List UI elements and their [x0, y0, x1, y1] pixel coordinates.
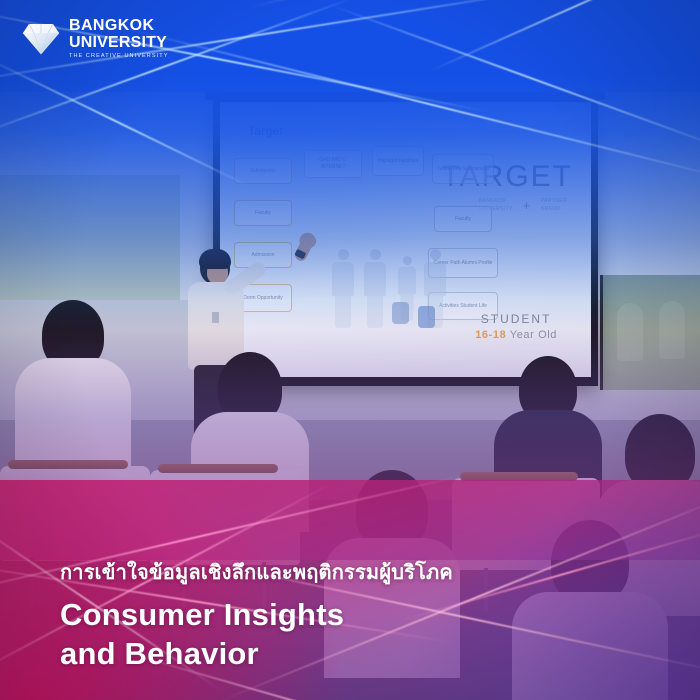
bangkok-university-logo: BANGKOK UNIVERSITY THE CREATIVE UNIVERSI…: [22, 18, 168, 60]
headline-english-line2: and Behavior: [60, 634, 453, 674]
headline-english-line1: Consumer Insights: [60, 595, 453, 635]
brand-line-1: BANGKOK: [69, 18, 168, 34]
poster-canvas: Target TARGET BANGKOKUNIVERSITY + PARTNE…: [0, 0, 700, 700]
brand-wordmark: BANGKOK UNIVERSITY THE CREATIVE UNIVERSI…: [69, 18, 168, 60]
brand-tagline: THE CREATIVE UNIVERSITY: [69, 54, 168, 60]
brand-line-2: UNIVERSITY: [69, 35, 168, 51]
diamond-logo-icon: [22, 22, 60, 56]
headline-block: การเข้าใจข้อมูลเชิงลึกและพฤติกรรมผู้บริโ…: [60, 556, 453, 674]
headline-thai: การเข้าใจข้อมูลเชิงลึกและพฤติกรรมผู้บริโ…: [60, 556, 453, 588]
headline-english: Consumer Insights and Behavior: [60, 595, 453, 674]
